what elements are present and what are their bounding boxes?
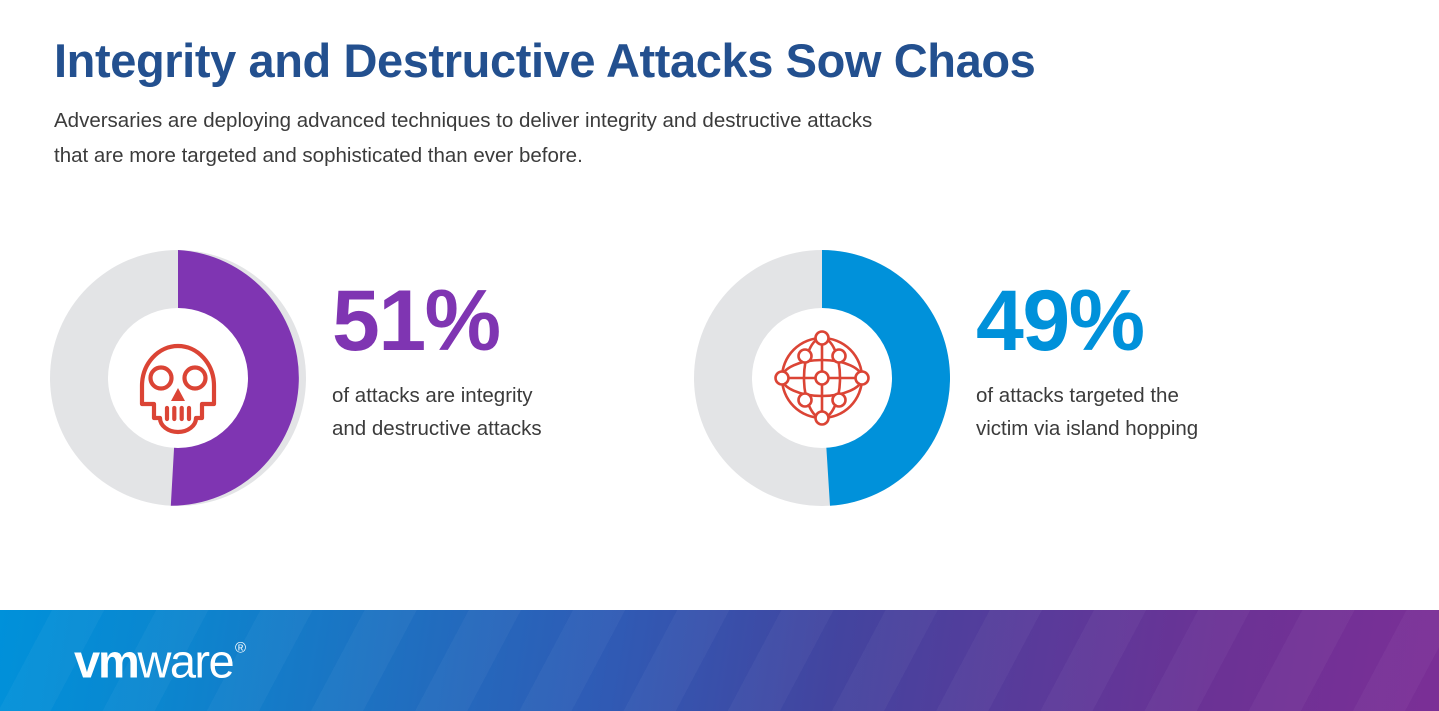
stat-desc-line-2: victim via island hopping <box>976 412 1198 445</box>
stat-text-51: 51% of attacks are integrity and destruc… <box>332 250 542 446</box>
registered-trademark-icon: ® <box>235 640 246 655</box>
subtitle-line-1: Adversaries are deploying advanced techn… <box>54 103 1104 138</box>
stat-block-integrity-attacks: 51% of attacks are integrity and destruc… <box>50 250 542 506</box>
vmware-logo-ware: ware <box>138 637 233 684</box>
infographic-page: Integrity and Destructive Attacks Sow Ch… <box>0 0 1439 711</box>
stat-text-49: 49% of attacks targeted the victim via i… <box>976 250 1198 446</box>
stat-desc-line-1: of attacks are integrity <box>332 379 542 412</box>
vmware-logo-vm: vm <box>74 637 138 684</box>
donut-chart-49 <box>694 250 950 506</box>
header: Integrity and Destructive Attacks Sow Ch… <box>54 36 1254 173</box>
footer-bar: vm ware ® <box>0 610 1439 711</box>
stat-percent-49: 49% <box>976 282 1198 361</box>
stat-description-51: of attacks are integrity and destructive… <box>332 379 542 445</box>
subtitle-line-2: that are more targeted and sophisticated… <box>54 138 1104 173</box>
stat-block-island-hopping: 49% of attacks targeted the victim via i… <box>694 250 1198 506</box>
stat-description-49: of attacks targeted the victim via islan… <box>976 379 1198 445</box>
donut-chart-51 <box>50 250 306 506</box>
page-subtitle: Adversaries are deploying advanced techn… <box>54 103 1104 174</box>
stat-percent-51: 51% <box>332 282 542 361</box>
vmware-logo: vm ware ® <box>74 637 246 684</box>
stat-desc-line-2: and destructive attacks <box>332 412 542 445</box>
stat-desc-line-1: of attacks targeted the <box>976 379 1198 412</box>
page-title: Integrity and Destructive Attacks Sow Ch… <box>54 36 1254 87</box>
stats-row: 51% of attacks are integrity and destruc… <box>0 250 1439 520</box>
